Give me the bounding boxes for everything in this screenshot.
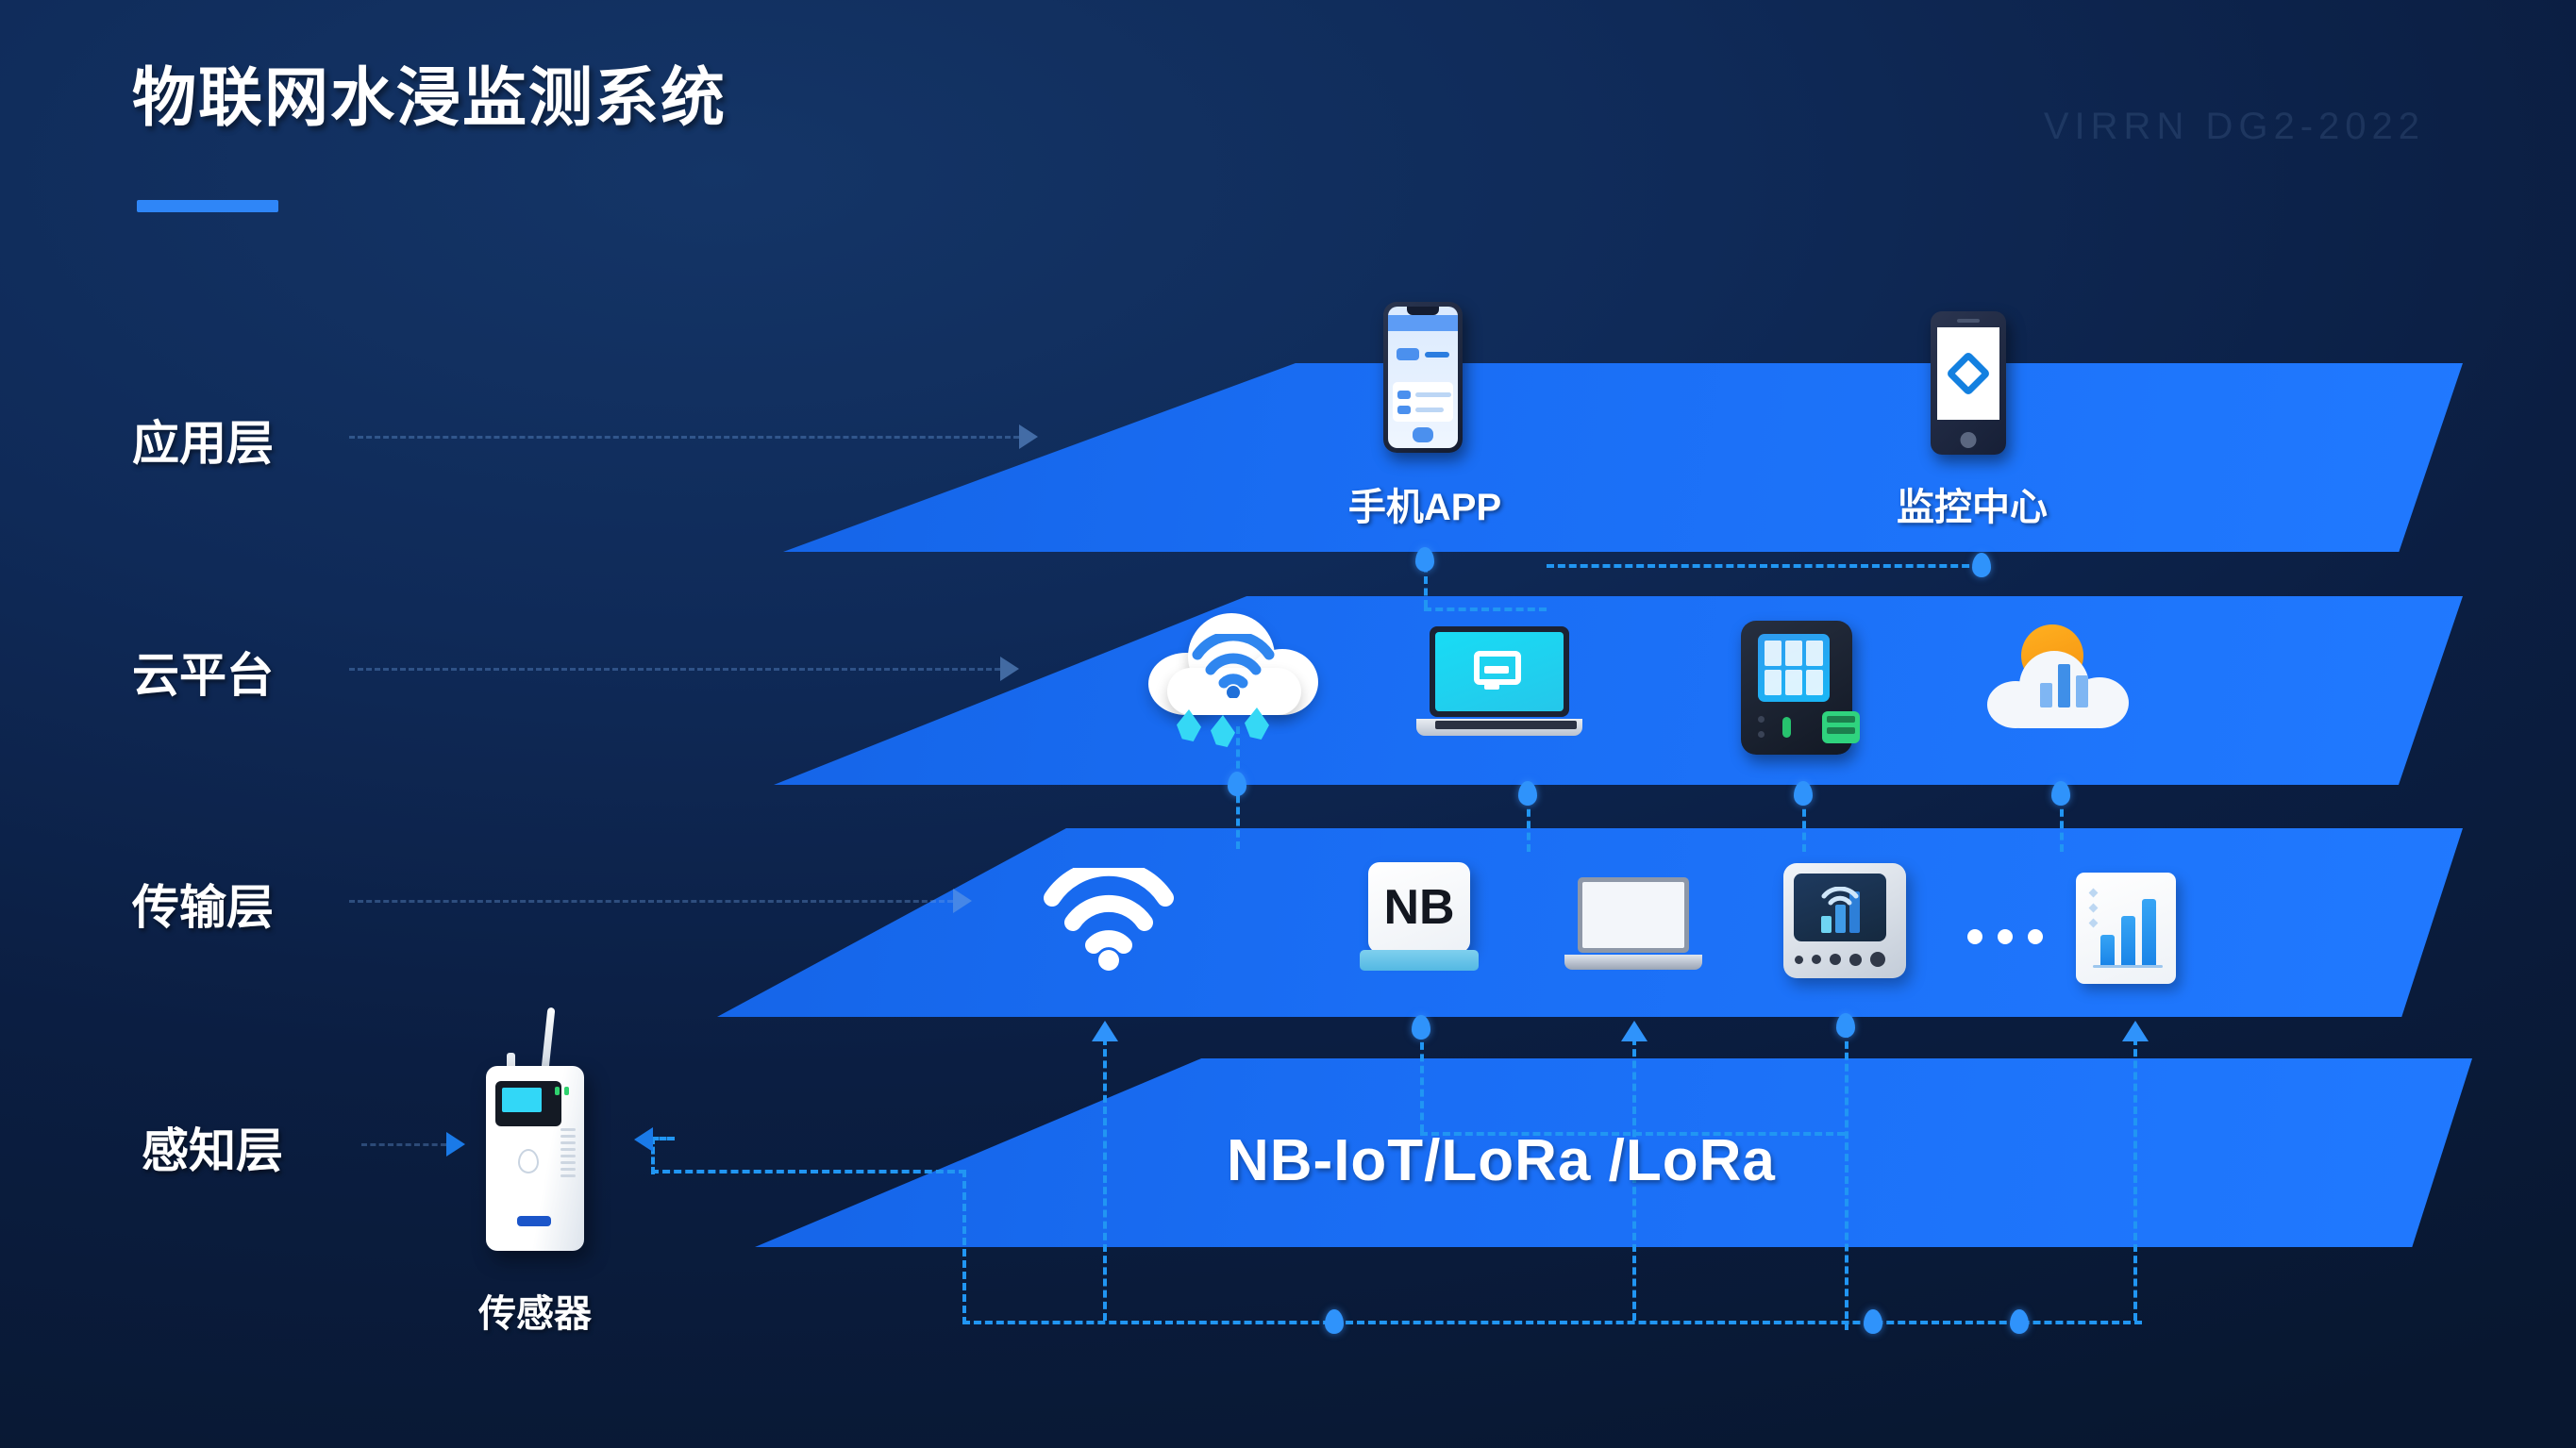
connector-bottom-h2	[651, 1170, 966, 1173]
gateway-led-row	[1795, 952, 1885, 967]
up-arrow-icon	[1092, 1021, 1118, 1041]
gateway-screen	[1794, 874, 1886, 941]
connector-node	[1228, 772, 1246, 796]
sensor-lcd	[502, 1088, 542, 1112]
sidebar-item-application: 应用层	[132, 406, 274, 474]
laptop-screen-icon[interactable]	[1430, 626, 1582, 729]
sensor-in-arrow-icon	[634, 1127, 653, 1152]
terminal-led	[1758, 716, 1765, 723]
terminal-app-grid	[1765, 641, 1823, 695]
application-label-connector	[349, 436, 1019, 439]
connector-node	[1836, 1013, 1855, 1038]
chart-y-markers	[2090, 890, 2097, 926]
caption-monitor-center: 监控中心	[1854, 476, 2090, 531]
terminal-green-indicator	[1782, 717, 1791, 738]
sidebar-item-perception: 感知层	[142, 1113, 283, 1181]
up-arrow-icon	[1621, 1021, 1648, 1041]
phone-card	[1393, 382, 1453, 422]
application-layer-slab	[783, 363, 2463, 552]
laptop-grey-icon[interactable]	[1578, 877, 1702, 970]
cloud-layer-slab	[774, 596, 2463, 785]
connector-node	[1415, 547, 1434, 572]
antenna-icon	[542, 1007, 556, 1070]
sensor-status-leds	[555, 1087, 569, 1095]
wifi-icon[interactable]	[1043, 868, 1175, 976]
connector-bottom-h1	[962, 1321, 2142, 1324]
sensor-indicator-strip	[517, 1216, 551, 1226]
sidebar-item-transport: 传输层	[132, 870, 274, 938]
page-title: 物联网水浸监测系统	[132, 45, 727, 139]
protocol-label: NB-IoT/LoRa /LoRa	[1227, 1127, 1776, 1194]
sensor-display	[495, 1081, 561, 1126]
diamond-logo-icon	[1946, 351, 1991, 396]
smartphone-app-icon[interactable]	[1383, 302, 1463, 453]
terminal-sim-card-icon	[1822, 711, 1860, 743]
connector-node	[1972, 553, 1991, 577]
phone-screen	[1388, 307, 1458, 448]
terminal-screen	[1758, 634, 1830, 702]
connector-node	[2010, 1309, 2029, 1334]
laptop-lid	[1430, 626, 1569, 717]
chart-axis	[2093, 965, 2163, 968]
gateway-signal-icon[interactable]	[1783, 863, 1906, 978]
phone-screen	[1937, 327, 1999, 420]
chart-bars	[2100, 899, 2156, 965]
laptop-screen	[1582, 882, 1684, 948]
phone-home-button	[1961, 432, 1977, 448]
phone-row-line	[1415, 408, 1444, 412]
nb-card-icon[interactable]: NB	[1368, 862, 1479, 971]
watermark-text: VIRRN DG2-2022	[2044, 106, 2425, 148]
connector-node	[1412, 1015, 1430, 1040]
connector-node	[1518, 781, 1537, 806]
connector-node	[2051, 781, 2070, 806]
smartphone-monitor-icon[interactable]	[1931, 311, 2006, 455]
phone-row-icon	[1397, 391, 1411, 399]
connector-transport-chart	[2133, 1038, 2137, 1321]
cloud-wifi-rain-icon[interactable]	[1148, 611, 1318, 717]
perception-label-arrow-icon	[446, 1132, 465, 1157]
title-underline-rule	[137, 200, 278, 212]
layer-label-text: 云平台	[132, 649, 274, 702]
diagram-canvas: 物联网水浸监测系统 VIRRN DG2-2022 应用层 云平台 传输层 感知层	[0, 0, 2576, 1448]
phone-row-icon	[1397, 406, 1411, 414]
phone-fab-button	[1413, 427, 1433, 442]
layer-label-text: 应用层	[132, 417, 274, 470]
caption-mobile-app: 手机APP	[1307, 476, 1543, 531]
wifi-glyph	[1043, 868, 1175, 972]
layer-label-text: 传输层	[132, 881, 274, 934]
bar-chart-icon	[2040, 664, 2088, 707]
cloud-shape	[1148, 611, 1318, 717]
wifi-icon	[1820, 887, 1860, 909]
terminal-device-icon[interactable]	[1741, 621, 1852, 755]
sensor-body	[486, 1066, 584, 1251]
layer-label-text: 感知层	[142, 1124, 283, 1177]
terminal-led	[1758, 731, 1765, 738]
sun-cloud-chart-icon[interactable]	[1987, 624, 2129, 728]
laptop-base	[1564, 955, 1702, 970]
laptop-keyboard	[1435, 721, 1577, 729]
up-arrow-icon	[2122, 1021, 2149, 1041]
connector-monitor-h	[1547, 564, 1981, 568]
sensor-device-icon[interactable]	[486, 1066, 584, 1251]
perception-label-connector	[361, 1143, 446, 1146]
connector-transport-gateway	[1845, 1019, 1848, 1330]
phone-chat-bubble	[1397, 348, 1419, 360]
connector-node	[1864, 1309, 1882, 1334]
cloud-label-connector	[349, 668, 1000, 671]
phone-speaker-icon	[1957, 319, 1980, 323]
sidebar-item-cloud-platform: 云平台	[132, 638, 274, 706]
connector-node	[1325, 1309, 1344, 1334]
phone-chat-line	[1425, 352, 1449, 358]
connector-bottom-v1	[962, 1170, 966, 1324]
monitor-icon	[1473, 650, 1526, 693]
connector-node	[1794, 781, 1813, 806]
laptop-screen	[1435, 632, 1564, 711]
connector-app-phone-h	[1424, 607, 1547, 611]
nb-card-base	[1360, 950, 1479, 971]
phone-notch-icon	[1407, 307, 1439, 315]
phone-topbar	[1388, 315, 1458, 331]
application-label-arrow-icon	[1019, 424, 1038, 449]
transport-label-arrow-icon	[953, 889, 972, 913]
connector-sensor-h	[651, 1137, 675, 1140]
phone-row-line	[1415, 392, 1451, 397]
sensor-button	[518, 1149, 539, 1173]
bar-chart-card-icon[interactable]	[2076, 873, 2176, 984]
caption-sensor: 传感器	[441, 1283, 629, 1338]
connector-transport-wifi	[1103, 1038, 1107, 1321]
ellipsis-icon	[1967, 929, 2043, 944]
nb-label: NB	[1368, 862, 1470, 953]
sensor-vent	[560, 1128, 576, 1177]
laptop-lid	[1578, 877, 1689, 953]
cloud-label-arrow-icon	[1000, 657, 1019, 681]
transport-label-connector	[349, 900, 953, 903]
wifi-icon	[1190, 634, 1277, 698]
